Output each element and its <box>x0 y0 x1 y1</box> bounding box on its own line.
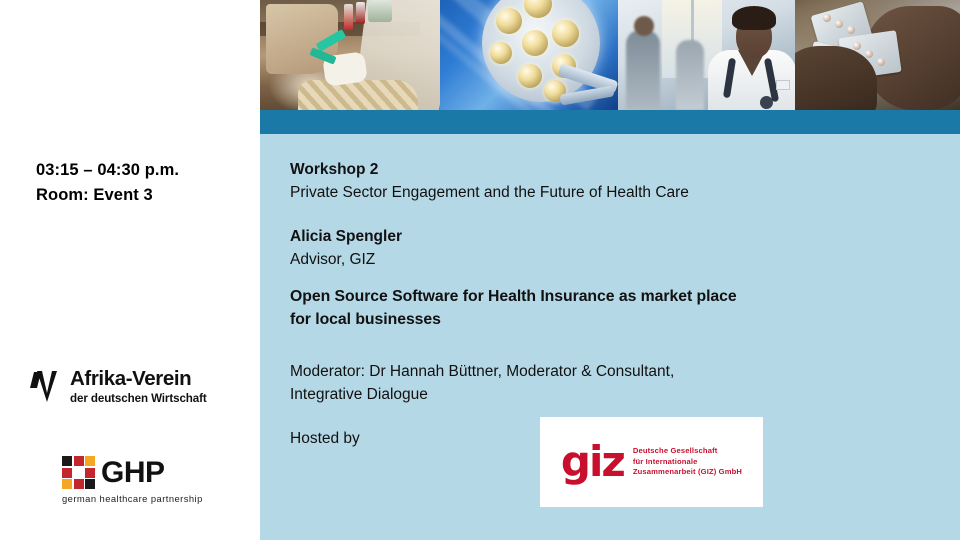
topic-line-2: for local businesses <box>290 308 930 331</box>
workshop-label: Workshop 2 <box>290 159 930 182</box>
topic-line-1: Open Source Software for Health Insuranc… <box>290 285 930 308</box>
photo-smiling-doctor <box>618 0 795 110</box>
ghp-grid-cell-7 <box>74 479 84 489</box>
afrika-verein-logo: Afrika-Verein der deutschen Wirtschaft <box>30 368 230 420</box>
ghp-grid-cell-1 <box>74 456 84 466</box>
session-time: 03:15 – 04:30 p.m. <box>36 158 179 183</box>
session-details: Workshop 2 Private Sector Engagement and… <box>290 159 930 451</box>
photo-pills-blister-pack <box>795 0 960 110</box>
session-time-block: 03:15 – 04:30 p.m. Room: Event 3 <box>36 158 179 208</box>
teal-divider-band <box>260 110 960 134</box>
ghp-grid-cell-5 <box>85 468 95 478</box>
ghp-wordmark: GHP <box>101 458 165 488</box>
header-photo-strip <box>260 0 960 110</box>
giz-logo: giz Deutsche Gesellschaft für Internatio… <box>540 417 763 507</box>
left-sidebar: 03:15 – 04:30 p.m. Room: Event 3 Afrika-… <box>0 0 260 540</box>
afrika-verein-title: Afrika-Verein <box>70 368 207 390</box>
moderator-label: Moderator: <box>290 363 365 380</box>
workshop-title: Private Sector Engagement and the Future… <box>290 182 930 205</box>
speaker-role: Advisor, GIZ <box>290 249 930 272</box>
ghp-grid-cell-8 <box>85 479 95 489</box>
ghp-grid-icon <box>62 456 95 489</box>
ghp-grid-cell-3 <box>62 468 72 478</box>
photo-surgical-lights <box>440 0 618 110</box>
content-panel: Workshop 2 Private Sector Engagement and… <box>260 134 960 540</box>
photo-blood-draw-lab <box>260 0 440 110</box>
giz-desc-line-2: für Internationale <box>633 457 742 467</box>
moderator-org: Integrative Dialogue <box>290 384 930 407</box>
giz-desc-line-3: Zusammenarbeit (GIZ) GmbH <box>633 467 742 477</box>
ghp-logo: GHP german healthcare partnership <box>62 456 212 504</box>
moderator-line: Moderator: Dr Hannah Büttner, Moderator … <box>290 361 930 384</box>
afrika-verein-mark-icon <box>30 369 66 405</box>
afrika-verein-subtitle: der deutschen Wirtschaft <box>70 392 207 406</box>
speaker-name: Alicia Spengler <box>290 226 930 249</box>
giz-description: Deutsche Gesellschaft für Internationale… <box>633 446 742 477</box>
ghp-grid-cell-0 <box>62 456 72 466</box>
moderator-name: Dr Hannah Büttner, Moderator & Consultan… <box>365 363 674 380</box>
ghp-grid-cell-2 <box>85 456 95 466</box>
ghp-subtitle: german healthcare partnership <box>62 493 212 504</box>
session-room: Room: Event 3 <box>36 183 179 208</box>
afrika-verein-logo-text: Afrika-Verein der deutschen Wirtschaft <box>70 368 207 406</box>
giz-desc-line-1: Deutsche Gesellschaft <box>633 446 742 456</box>
giz-wordmark: giz <box>561 443 624 481</box>
ghp-grid-cell-6 <box>62 479 72 489</box>
ghp-grid-cell-4 <box>74 468 84 478</box>
